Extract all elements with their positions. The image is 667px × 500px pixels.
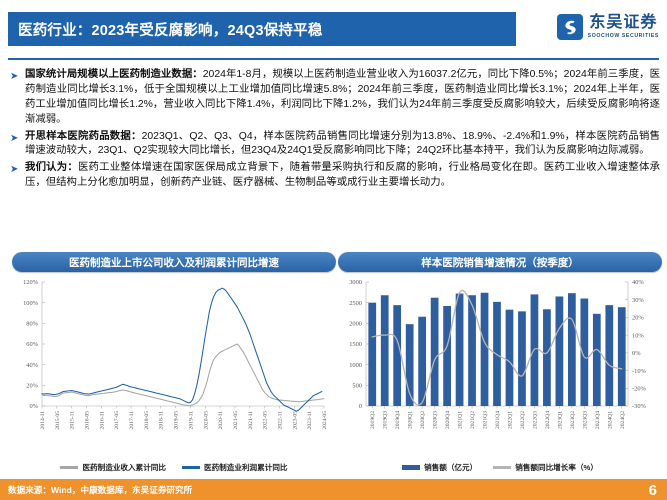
svg-text:2022Q4: 2022Q4 [545,411,551,429]
svg-text:2020Q3: 2020Q3 [433,411,439,429]
bullet-text: 开思样本医院药品数据：2023Q1、Q2、Q3、Q4，样本医院药品销售同比增速分… [25,130,660,160]
legend-label: 销售额同比增长率（%） [515,462,598,473]
svg-text:2022Q1: 2022Q1 [508,411,514,429]
svg-text:10%: 10% [632,332,644,339]
bullet-marker-icon: ➤ [10,68,25,84]
svg-text:0%: 0% [29,403,38,410]
title-bar: 医药行业：2023年受反腐影响，24Q3保持平稳 [8,12,516,46]
bullet-item: ➤ 国家统计局规模以上医药制造业数据：2024年1-8月，规模以上医药制造业营业… [10,68,660,128]
data-source-text: 数据来源：Wind，中康数据库，东吴证券研究所 [0,484,192,496]
svg-text:2017-05: 2017-05 [114,411,120,430]
svg-text:2024-05: 2024-05 [322,411,328,430]
svg-text:20%: 20% [26,383,38,390]
svg-text:2019Q2: 2019Q2 [370,411,376,429]
bullet-text: 国家统计局规模以上医药制造业数据：2024年1-8月，规模以上医药制造业营业收入… [25,68,660,128]
svg-text:-30%: -30% [632,403,647,410]
svg-text:2024Q2: 2024Q2 [620,411,626,429]
svg-text:80%: 80% [26,321,38,328]
slide-header: 医药行业：2023年受反腐影响，24Q3保持平稳 东吴证券 SOOCHOW SE… [0,0,667,62]
svg-text:2020Q2: 2020Q2 [420,411,426,429]
legend-swatch-revenue [60,466,78,469]
svg-text:2023Q3: 2023Q3 [582,411,588,429]
chart-right-container: 样本医院销售增速情况（按季度） 050010001500200025003000… [338,252,662,480]
svg-text:500: 500 [352,383,362,390]
svg-text:2020Q4: 2020Q4 [445,411,451,429]
svg-text:2019Q3: 2019Q3 [383,411,389,429]
svg-text:100%: 100% [23,300,39,307]
svg-text:2015-11: 2015-11 [70,411,76,430]
svg-text:30%: 30% [632,297,644,304]
svg-text:1500: 1500 [349,341,362,348]
svg-text:2021-11: 2021-11 [248,411,254,430]
svg-text:2018-05: 2018-05 [144,411,150,430]
chart-left-svg: 0%20%40%60%80%100%120%2014-112015-052015… [12,276,336,461]
svg-text:2023-05: 2023-05 [292,411,298,430]
legend-label: 医药制造业收入累计同比 [82,462,166,473]
svg-text:-10%: -10% [632,368,647,375]
svg-text:60%: 60% [26,341,38,348]
svg-text:2022Q2: 2022Q2 [520,411,526,429]
svg-text:2500: 2500 [349,300,362,307]
chart-right-title: 样本医院销售增速情况（按季度） [338,252,662,272]
bullet-item: ➤ 开思样本医院药品数据：2023Q1、Q2、Q3、Q4，样本医院药品销售同比增… [10,130,660,160]
svg-text:3000: 3000 [349,279,362,286]
svg-text:2021Q4: 2021Q4 [495,411,501,429]
svg-text:2023Q2: 2023Q2 [570,411,576,429]
svg-text:120%: 120% [23,279,39,286]
bullet-item: ➤ 我们认为：医药工业整体增速在国家医保局成立背景下，随着带量采购执行和反腐的影… [10,161,660,191]
svg-text:-20%: -20% [632,385,647,392]
svg-text:1000: 1000 [349,362,362,369]
logo-name-cn: 东吴证券 [589,15,657,31]
svg-text:2023Q4: 2023Q4 [595,411,601,429]
bullet-lead: 国家统计局规模以上医药制造业数据： [25,69,203,80]
svg-text:2022Q3: 2022Q3 [532,411,538,429]
chart-left-title: 医药制造业上市公司收入及利润累计同比增速 [12,252,336,272]
svg-text:2024Q1: 2024Q1 [607,411,613,429]
legend-item: 销售额同比增长率（%） [493,462,598,473]
bullet-list: ➤ 国家统计局规模以上医药制造业数据：2024年1-8月，规模以上医药制造业营业… [10,68,660,193]
svg-text:40%: 40% [26,362,38,369]
svg-text:0: 0 [359,403,362,410]
svg-text:40%: 40% [632,279,644,286]
svg-text:2017-11: 2017-11 [129,411,135,430]
legend-item: 医药制造业收入累计同比 [60,462,166,473]
svg-text:2019Q4: 2019Q4 [395,411,401,429]
svg-text:2022-05: 2022-05 [263,411,269,430]
svg-text:2021Q3: 2021Q3 [483,411,489,429]
chart-left-container: 医药制造业上市公司收入及利润累计同比增速 0%20%40%60%80%100%1… [12,252,336,480]
chart-left-legend: 医药制造业收入累计同比 医药制造业利润累计同比 [12,462,336,473]
legend-swatch-sales [402,465,420,470]
svg-text:2020-05: 2020-05 [203,411,209,430]
logo-name-en: SOOCHOW SECURITIES [588,33,659,39]
slide-page: 医药行业：2023年受反腐影响，24Q3保持平稳 东吴证券 SOOCHOW SE… [0,0,667,500]
legend-item: 医药制造业利润累计同比 [182,462,288,473]
svg-text:2021Q2: 2021Q2 [470,411,476,429]
legend-label: 销售额（亿元） [424,462,477,473]
svg-text:2021Q1: 2021Q1 [458,411,464,429]
svg-text:2000: 2000 [349,321,362,328]
charts-row: 医药制造业上市公司收入及利润累计同比增速 0%20%40%60%80%100%1… [0,252,667,480]
bullet-text: 我们认为：医药工业整体增速在国家医保局成立背景下，随着带量采购执行和反腐的影响，… [25,161,660,191]
svg-text:20%: 20% [632,315,644,322]
bullet-body-text: 医药工业整体增速在国家医保局成立背景下，随着带量采购执行和反腐的影响，行业格局变… [25,162,660,188]
chart-right-plot: 050010001500200025003000-30%-20%-10%0%10… [338,276,662,461]
svg-text:2022-11: 2022-11 [278,411,284,430]
chart-right-svg: 050010001500200025003000-30%-20%-10%0%10… [338,276,662,461]
chart-right-legend: 销售额（亿元） 销售额同比增长率（%） [338,462,662,473]
svg-text:2023Q1: 2023Q1 [557,411,563,429]
bullet-lead: 开思样本医院药品数据： [25,131,142,142]
svg-text:2015-05: 2015-05 [55,411,61,430]
svg-text:2018-11: 2018-11 [159,411,165,430]
bullet-marker-icon: ➤ [10,161,25,177]
legend-item: 销售额（亿元） [402,462,477,473]
svg-text:2016-05: 2016-05 [85,411,91,430]
svg-text:2016-11: 2016-11 [99,411,105,430]
bullet-lead: 我们认为： [25,162,78,173]
svg-text:2021-05: 2021-05 [233,411,239,430]
legend-swatch-growth [493,466,511,469]
svg-text:2014-11: 2014-11 [40,411,46,430]
slide-footer: 数据来源：Wind，中康数据库，东吴证券研究所 6 [0,480,667,500]
page-title: 医药行业：2023年受反腐影响，24Q3保持平稳 [8,19,323,40]
svg-text:2019-11: 2019-11 [188,411,194,430]
svg-text:2020Q1: 2020Q1 [408,411,414,429]
svg-text:2023-11: 2023-11 [307,411,313,430]
legend-label: 医药制造业利润累计同比 [204,462,288,473]
bullet-marker-icon: ➤ [10,130,25,146]
soochow-logo-icon [557,14,583,40]
chart-left-plot: 0%20%40%60%80%100%120%2014-112015-052015… [12,276,336,461]
page-number: 6 [649,483,667,498]
company-logo: 东吴证券 SOOCHOW SECURITIES [557,14,659,40]
header-divider [8,58,659,60]
svg-text:2020-11: 2020-11 [218,411,224,430]
svg-text:2019-05: 2019-05 [174,411,180,430]
svg-text:0%: 0% [632,350,641,357]
legend-swatch-profit [182,466,200,469]
